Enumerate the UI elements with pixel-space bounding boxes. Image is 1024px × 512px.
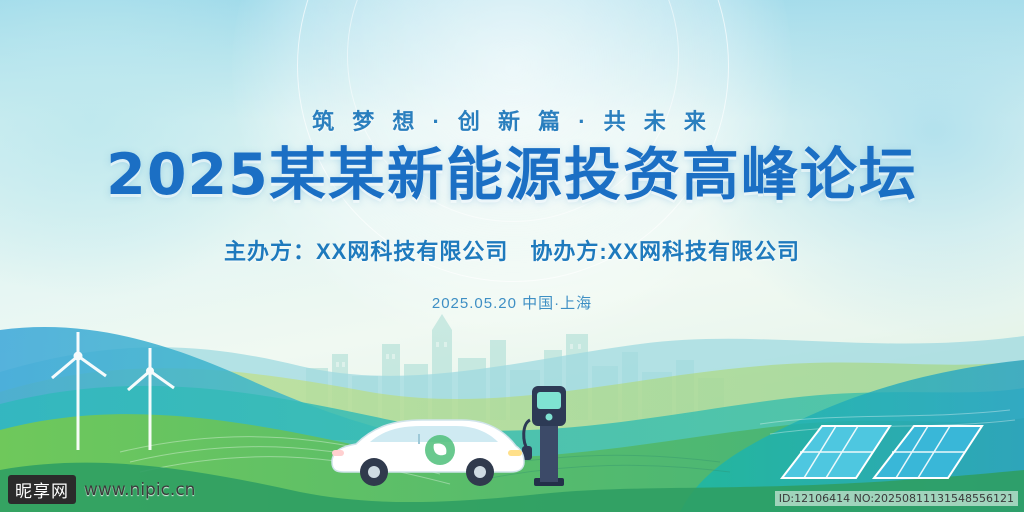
- watermark-logo: 昵享网: [8, 475, 76, 504]
- watermark-id: ID:12106414 NO:20250811131548556121: [775, 491, 1018, 506]
- watermark-url: www.nipic.cn: [84, 480, 195, 500]
- solar-panel-array: [778, 408, 988, 490]
- electric-car: [322, 400, 532, 490]
- wind-turbine-group: [46, 324, 196, 454]
- poster-canvas: 筑 梦 想 · 创 新 篇 · 共 未 来 2025某某新能源投资高峰论坛 主办…: [0, 0, 1024, 512]
- watermark: 昵享网 www.nipic.cn: [8, 475, 195, 504]
